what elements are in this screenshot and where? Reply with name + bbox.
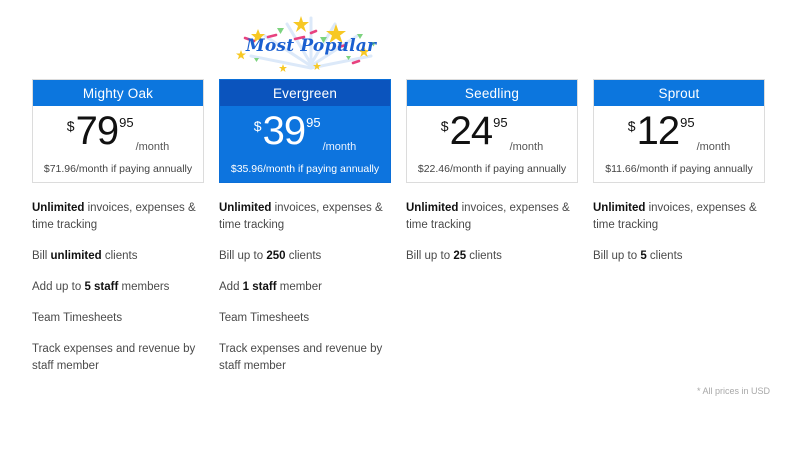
feature-emphasis: 25 <box>453 250 466 262</box>
feature-text: Add <box>219 281 243 293</box>
price-amount: 79 <box>76 112 119 150</box>
feature-text: Track expenses and revenue by staff memb… <box>219 343 382 372</box>
feature-item: Team Timesheets <box>32 310 204 327</box>
feature-item: Bill up to 25 clients <box>406 248 578 265</box>
feature-text: Track expenses and revenue by staff memb… <box>32 343 195 372</box>
feature-text: Bill up to <box>593 250 640 262</box>
pricing-page: Most Popular Mighty Oak $ 79 95 /month $… <box>0 0 802 458</box>
feature-emphasis: Unlimited <box>32 202 84 214</box>
price-cents: 95 <box>306 116 320 129</box>
feature-text: clients <box>286 250 322 262</box>
plan-price-block-mighty-oak: $ 79 95 /month $71.96/month if paying an… <box>33 106 203 182</box>
most-popular-label: Most Popular <box>225 36 397 56</box>
feature-text: Bill up to <box>406 250 453 262</box>
price-cents: 95 <box>680 116 694 129</box>
plan-card-evergreen[interactable]: Evergreen $ 39 95 /month $35.96/month if… <box>219 79 391 183</box>
price-footnote: * All prices in USD <box>697 386 770 396</box>
feature-text: Bill <box>32 250 51 262</box>
feature-emphasis: unlimited <box>51 250 102 262</box>
feature-item: Bill unlimited clients <box>32 248 204 265</box>
price-amount: 12 <box>637 112 680 150</box>
feature-item: Team Timesheets <box>219 310 391 327</box>
price-line: $ 79 95 /month <box>67 112 169 156</box>
feature-item: Unlimited invoices, expenses & time trac… <box>406 200 578 234</box>
currency-symbol: $ <box>67 119 75 133</box>
annual-price-note: $71.96/month if paying annually <box>44 163 192 175</box>
price-amount: 39 <box>263 112 306 150</box>
price-amount: 24 <box>450 112 493 150</box>
feature-item: Add 1 staff member <box>219 279 391 296</box>
feature-item: Track expenses and revenue by staff memb… <box>219 341 391 375</box>
feature-text: member <box>277 281 322 293</box>
feature-list-mighty-oak: Unlimited invoices, expenses & time trac… <box>32 200 204 389</box>
feature-emphasis: 1 staff <box>243 281 277 293</box>
feature-emphasis: 250 <box>266 250 285 262</box>
feature-item: Track expenses and revenue by staff memb… <box>32 341 204 375</box>
feature-text: Bill up to <box>219 250 266 262</box>
price-line: $ 39 95 /month <box>254 112 356 156</box>
feature-item: Bill up to 250 clients <box>219 248 391 265</box>
annual-price-note: $35.96/month if paying annually <box>231 163 379 175</box>
currency-symbol: $ <box>441 119 449 133</box>
feature-item: Unlimited invoices, expenses & time trac… <box>219 200 391 234</box>
feature-item: Bill up to 5 clients <box>593 248 765 265</box>
feature-list-sprout: Unlimited invoices, expenses & time trac… <box>593 200 765 389</box>
plan-price-block-evergreen: $ 39 95 /month $35.96/month if paying an… <box>220 106 390 182</box>
feature-columns: Unlimited invoices, expenses & time trac… <box>32 200 770 389</box>
price-cents: 95 <box>493 116 507 129</box>
feature-text: Team Timesheets <box>219 312 309 324</box>
feature-text: Team Timesheets <box>32 312 122 324</box>
per-month-label: /month <box>323 142 357 153</box>
feature-emphasis: 5 staff <box>84 281 118 293</box>
per-month-label: /month <box>697 142 731 153</box>
currency-symbol: $ <box>628 119 636 133</box>
price-line: $ 12 95 /month <box>628 112 730 156</box>
feature-item: Unlimited invoices, expenses & time trac… <box>32 200 204 234</box>
feature-emphasis: Unlimited <box>406 202 458 214</box>
feature-emphasis: Unlimited <box>593 202 645 214</box>
feature-text: Add up to <box>32 281 84 293</box>
feature-text: clients <box>647 250 683 262</box>
plan-card-sprout[interactable]: Sprout $ 12 95 /month $11.66/month if pa… <box>593 79 765 183</box>
price-cents: 95 <box>119 116 133 129</box>
per-month-label: /month <box>510 142 544 153</box>
feature-text: clients <box>466 250 502 262</box>
feature-item: Add up to 5 staff members <box>32 279 204 296</box>
plan-name-seedling: Seedling <box>407 80 577 106</box>
pricing-cards: Mighty Oak $ 79 95 /month $71.96/month i… <box>32 79 770 183</box>
plan-card-mighty-oak[interactable]: Mighty Oak $ 79 95 /month $71.96/month i… <box>32 79 204 183</box>
annual-price-note: $22.46/month if paying annually <box>418 163 566 175</box>
plan-name-sprout: Sprout <box>594 80 764 106</box>
currency-symbol: $ <box>254 119 262 133</box>
feature-text: clients <box>102 250 138 262</box>
annual-price-note: $11.66/month if paying annually <box>605 163 753 175</box>
plan-price-block-sprout: $ 12 95 /month $11.66/month if paying an… <box>594 106 764 182</box>
plan-card-seedling[interactable]: Seedling $ 24 95 /month $22.46/month if … <box>406 79 578 183</box>
per-month-label: /month <box>136 142 170 153</box>
plan-name-evergreen: Evergreen <box>220 80 390 106</box>
feature-emphasis: Unlimited <box>219 202 271 214</box>
plan-price-block-seedling: $ 24 95 /month $22.46/month if paying an… <box>407 106 577 182</box>
feature-list-evergreen: Unlimited invoices, expenses & time trac… <box>219 200 391 389</box>
feature-item: Unlimited invoices, expenses & time trac… <box>593 200 765 234</box>
feature-list-seedling: Unlimited invoices, expenses & time trac… <box>406 200 578 389</box>
plan-name-mighty-oak: Mighty Oak <box>33 80 203 106</box>
feature-text: members <box>118 281 169 293</box>
price-line: $ 24 95 /month <box>441 112 543 156</box>
most-popular-badge: Most Popular <box>225 6 397 72</box>
